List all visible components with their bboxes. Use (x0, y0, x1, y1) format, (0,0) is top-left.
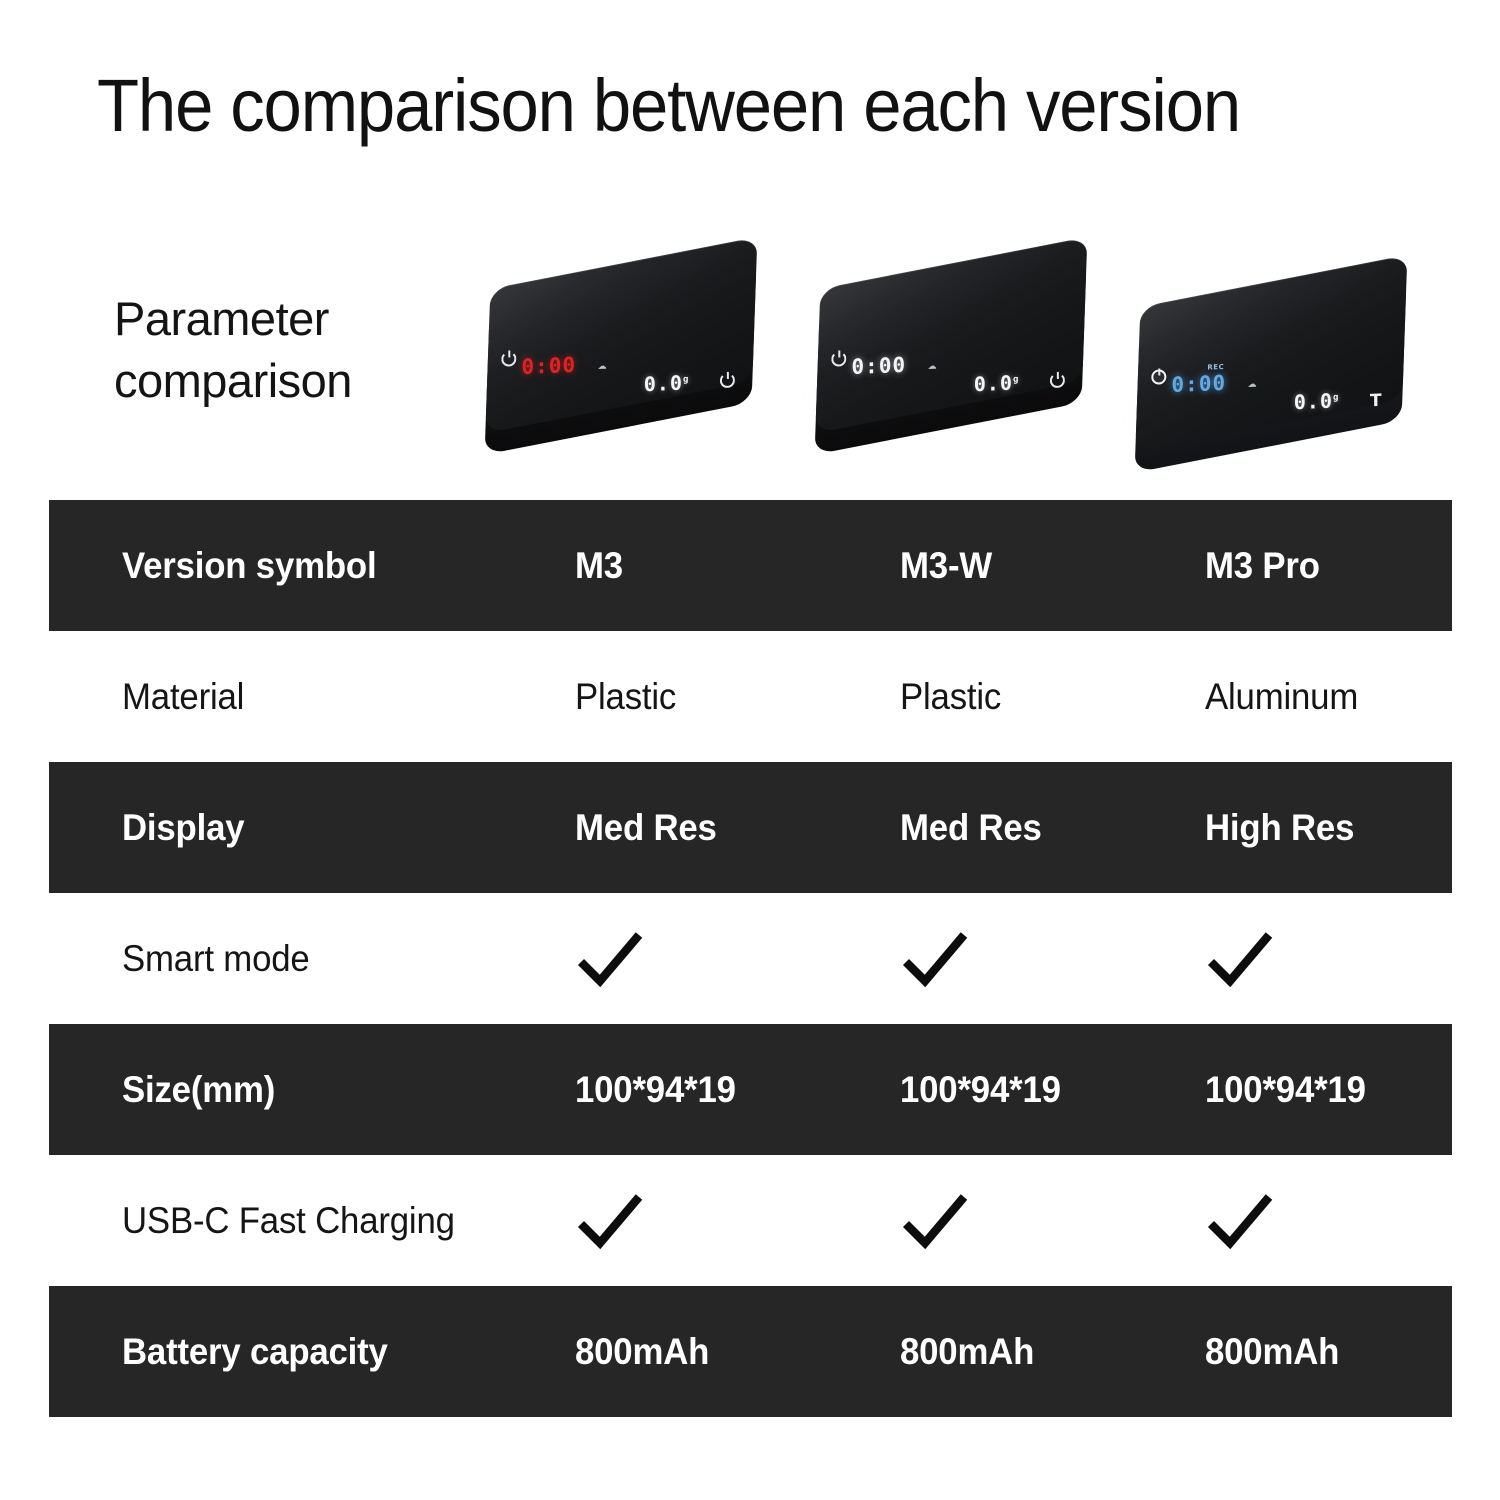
cell-m3w: 100*94*19 (900, 1068, 1061, 1112)
scale-body: REC 0:00 ☁ 0.0g T (1135, 255, 1408, 471)
row-label: Battery capacity (122, 1330, 388, 1374)
checkmark-icon-m3 (575, 929, 645, 989)
cell-m3pro: 800mAh (1205, 1330, 1339, 1374)
table-row: Smart mode (49, 893, 1452, 1024)
cell-m3: M3 (575, 544, 623, 588)
comparison-table: Version symbol M3 M3-W M3 Pro Material P… (49, 500, 1452, 1417)
row-label: USB-C Fast Charging (122, 1199, 455, 1243)
table-row: Version symbol M3 M3-W M3 Pro (49, 500, 1452, 631)
table-row: USB-C Fast Charging (49, 1155, 1452, 1286)
cell-m3w: Med Res (900, 806, 1042, 850)
cell-m3: 800mAh (575, 1330, 709, 1374)
cell-m3: Med Res (575, 806, 717, 850)
cell-m3pro: Aluminum (1205, 675, 1358, 719)
row-label: Material (122, 675, 244, 719)
cell-m3: Plastic (575, 675, 676, 719)
product-image-m3w: 0:00 ☁ 0.0g (785, 225, 1125, 490)
cell-m3w: 800mAh (900, 1330, 1034, 1374)
cell-m3w: M3-W (900, 544, 992, 588)
table-row: Material Plastic Plastic Aluminum (49, 631, 1452, 762)
checkmark-icon-m3w (900, 929, 970, 989)
product-image-m3: 0:00 ☁ 0.0g (455, 225, 795, 490)
cell-m3: 100*94*19 (575, 1068, 736, 1112)
cell-m3pro: 100*94*19 (1205, 1068, 1366, 1112)
section-label-line-2: comparison (114, 350, 494, 412)
scale-body: 0:00 ☁ 0.0g (815, 237, 1088, 453)
product-image-row: 0:00 ☁ 0.0g 0:00 ☁ 0.0g (455, 215, 1465, 490)
checkmark-icon-m3 (575, 1191, 645, 1251)
cell-m3w: Plastic (900, 675, 1001, 719)
cell-m3pro: High Res (1205, 806, 1354, 850)
table-row: Display Med Res Med Res High Res (49, 762, 1452, 893)
scale-body: 0:00 ☁ 0.0g (485, 237, 758, 453)
table-row: Size(mm) 100*94*19 100*94*19 100*94*19 (49, 1024, 1452, 1155)
section-label: Parameter comparison (114, 288, 494, 412)
checkmark-icon-m3w (900, 1191, 970, 1251)
row-label: Display (122, 806, 244, 850)
cell-m3pro: M3 Pro (1205, 544, 1320, 588)
page-title: The comparison between each version (97, 62, 1334, 150)
table-row: Battery capacity 800mAh 800mAh 800mAh (49, 1286, 1452, 1417)
product-image-m3pro: REC 0:00 ☁ 0.0g T (1105, 243, 1445, 508)
row-label: Version symbol (122, 544, 376, 588)
comparison-infographic: The comparison between each version Para… (0, 0, 1500, 1500)
checkmark-icon-m3pro (1205, 1191, 1275, 1251)
row-label: Smart mode (122, 937, 310, 981)
row-label: Size(mm) (122, 1068, 275, 1112)
checkmark-icon-m3pro (1205, 929, 1275, 989)
section-label-line-1: Parameter (114, 288, 494, 350)
